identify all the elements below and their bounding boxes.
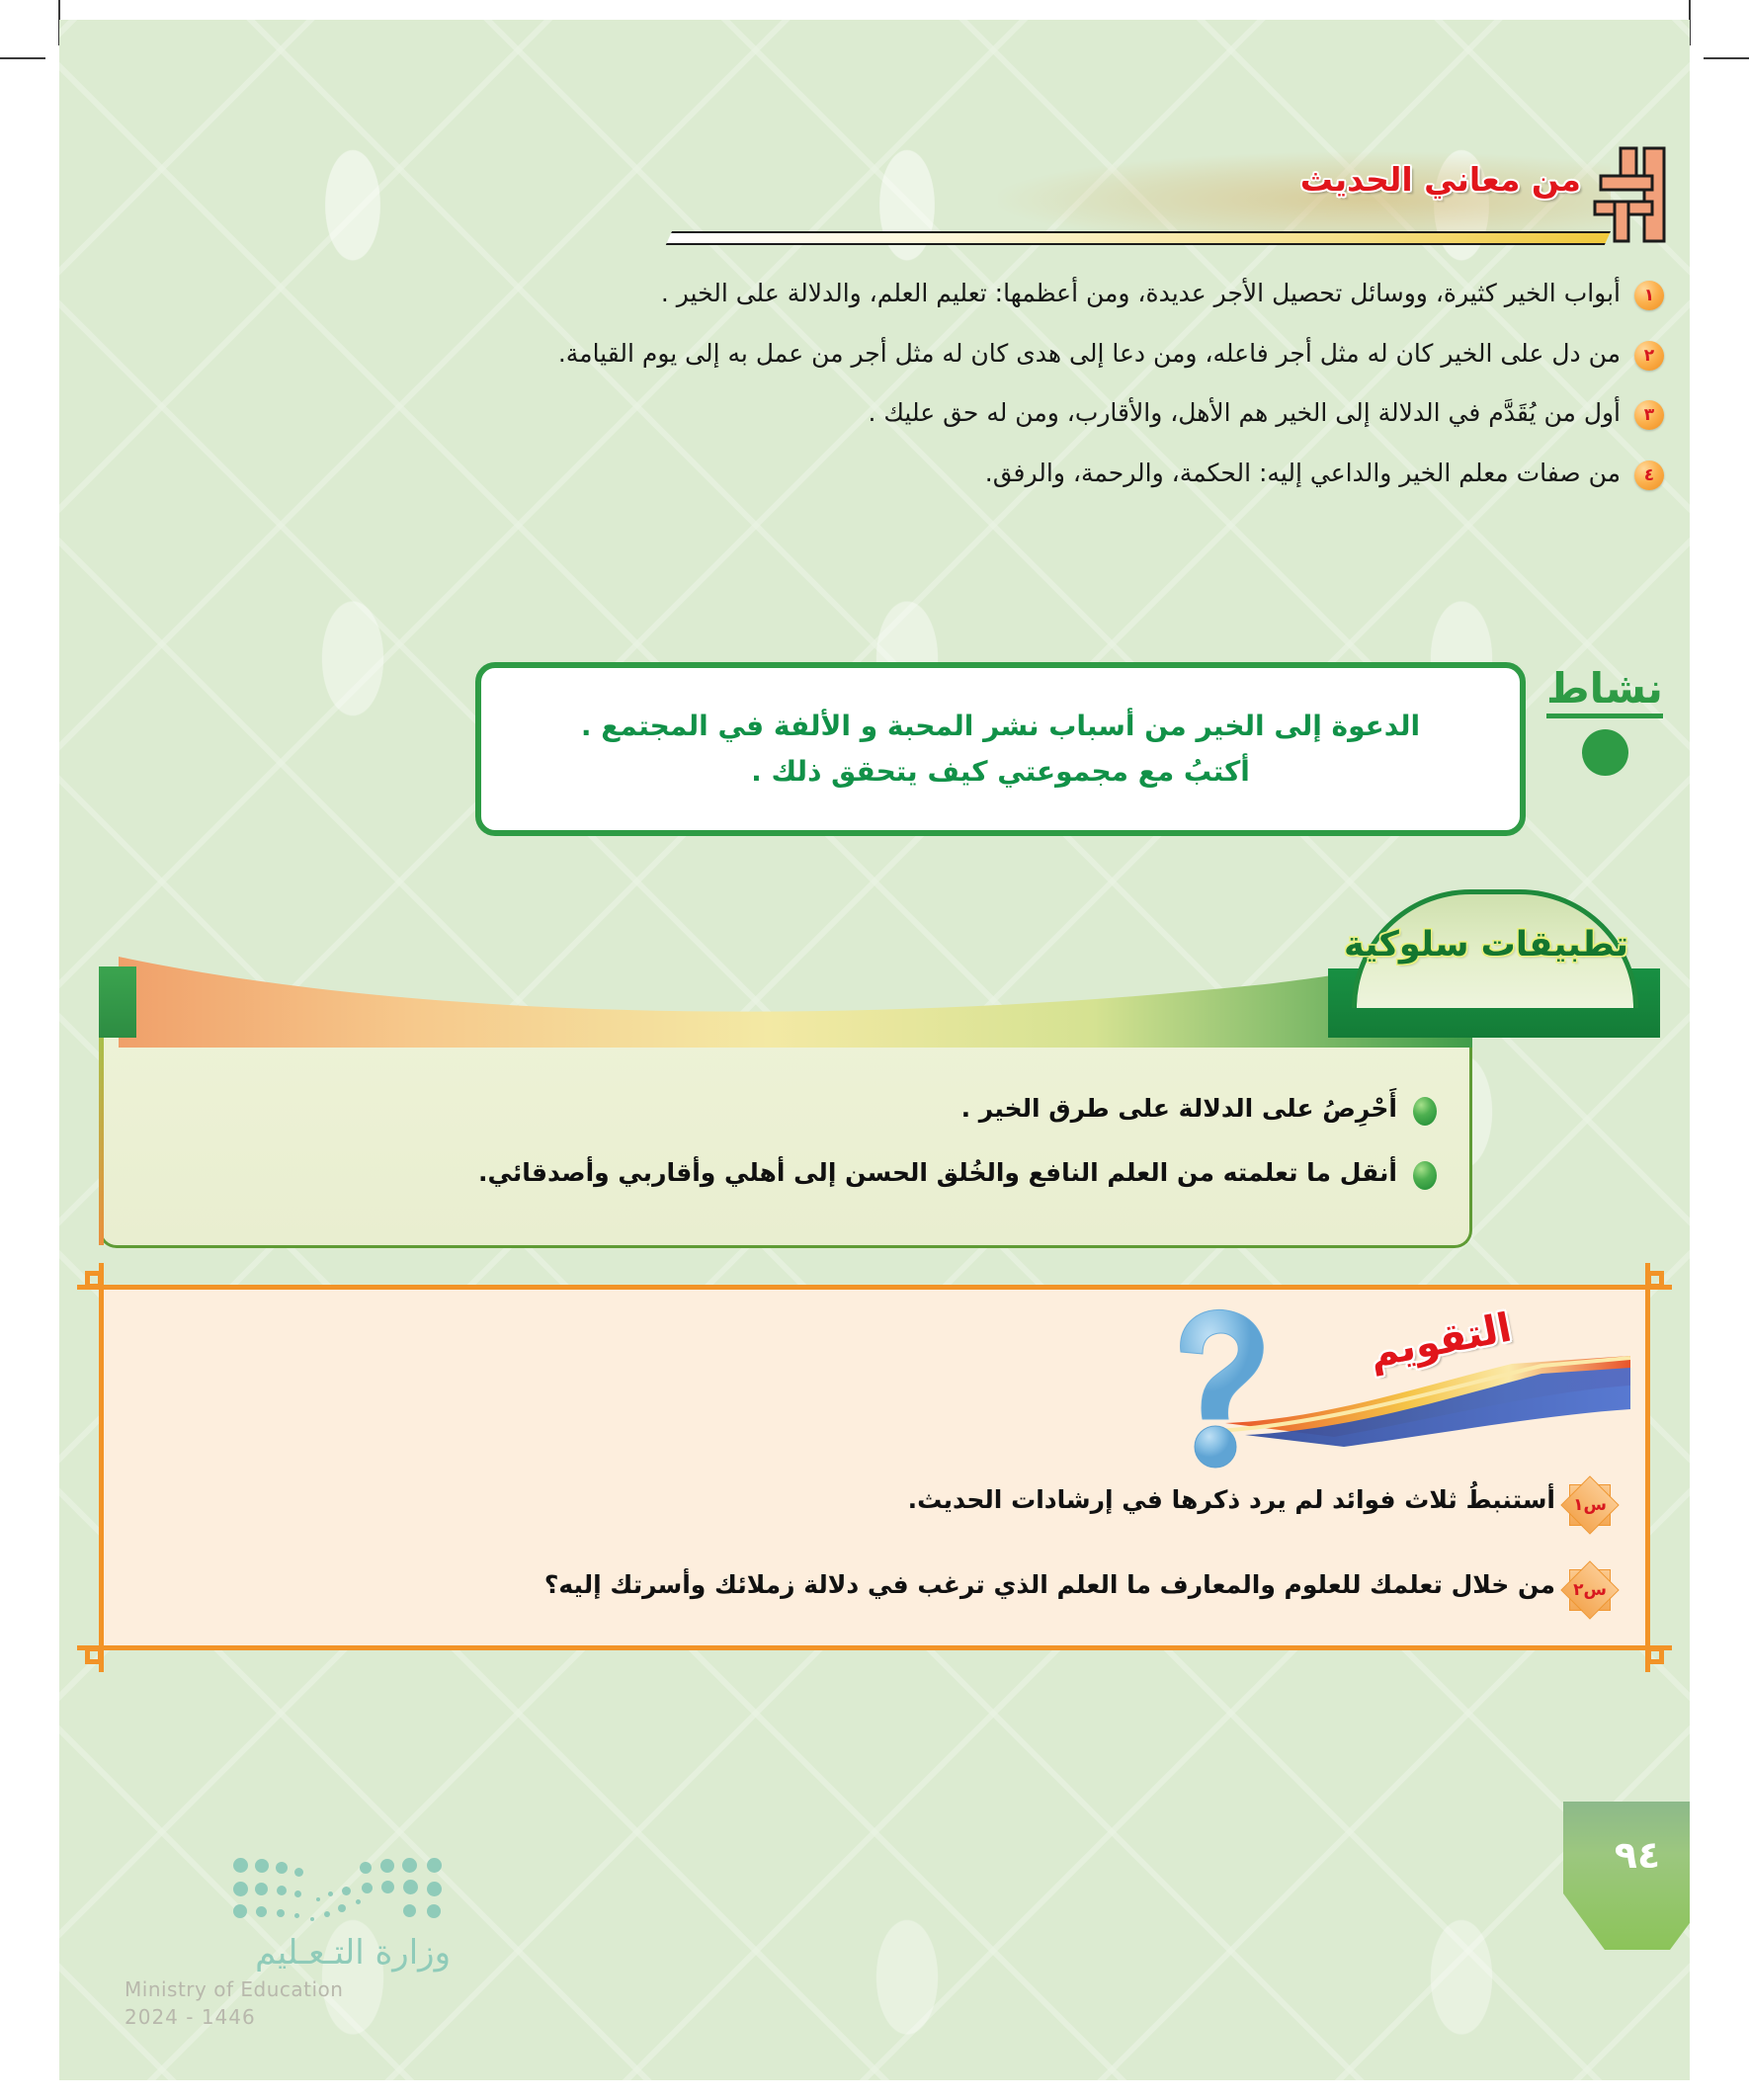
question-number-badge: س١ (1569, 1484, 1611, 1526)
activity-box: الدعوة إلى الخير من أسباب نشر المحبة و ا… (475, 662, 1526, 836)
ministry-name-arabic: وزارة التـعـليم (125, 1935, 451, 1972)
list-item-text: أول من يُقَدَّم في الدلالة إلى الخير هم … (868, 396, 1621, 431)
meanings-section-title: من معاني الحديث (1300, 160, 1581, 199)
question-number-badge: س٢ (1569, 1569, 1611, 1611)
question-mark-icon (1141, 1301, 1290, 1469)
list-item-text: من صفات معلم الخير والداعي إليه: الحكمة،… (985, 457, 1621, 491)
behavioral-applications-section: تطبيقات سلوكية أَحْرِصُ على الدلالة على … (99, 889, 1660, 1265)
question-text: أستنبطُ ثلاث فوائد لم يرد ذكرها في إرشاد… (908, 1482, 1555, 1517)
page-number: ٩٤ (1563, 1833, 1690, 1877)
behavioral-item-text: أنقل ما تعلمته من العلم النافع والخُلق ا… (478, 1155, 1397, 1190)
list-number-badge: ٢ (1634, 341, 1664, 371)
question-number-label: س٢ (1569, 1569, 1611, 1611)
activity-label-group: نشاط (1536, 668, 1674, 776)
kufi-ornament-icon (1591, 146, 1670, 243)
activity-bullet-dot-icon (1582, 729, 1628, 776)
crop-mark-top-left-horizontal (0, 57, 45, 59)
header-rule (666, 231, 1611, 245)
list-item-text: من دل على الخير كان له مثل أجر فاعله، وم… (558, 337, 1621, 372)
list-item: أَحْرِصُ على الدلالة على طرق الخير . (99, 1091, 1472, 1126)
question-row: س٢ من خلال تعلمك للعلوم والمعارف ما العل… (208, 1567, 1611, 1611)
ministry-logo: وزارة التـعـليم Ministry of Education 20… (125, 1858, 451, 2029)
corner-ornament-top-right (1628, 1263, 1672, 1306)
textbook-page: من معاني الحديث ١ أبواب الخير كثيرة، ووس… (59, 20, 1690, 2080)
page-number-badge: ٩٤ (1563, 1802, 1690, 1950)
activity-line: أكتبُ مع مجموعتي كيف يتحقق ذلك . (523, 749, 1478, 795)
evaluation-header: التقويم (1117, 1293, 1630, 1466)
corner-ornament-bottom-left (77, 1629, 121, 1672)
ministry-logo-dots-icon (233, 1858, 451, 1925)
corner-ornament-bottom-right (1628, 1629, 1672, 1672)
list-item: ٢ من دل على الخير كان له مثل أجر فاعله، … (103, 337, 1664, 372)
crop-mark-top-right-horizontal (1704, 57, 1749, 59)
behavioral-items: أَحْرِصُ على الدلالة على طرق الخير . أنق… (99, 1055, 1472, 1219)
behavioral-title: تطبيقات سلوكية (1362, 925, 1628, 965)
behavioral-item-text: أَحْرِصُ على الدلالة على طرق الخير . (961, 1091, 1397, 1126)
meanings-section-header: من معاني الحديث (613, 146, 1670, 255)
evaluation-section: التقويم س١ أستنبطُ ثلاث فوائد لم يرد ذكر… (99, 1285, 1650, 1650)
list-number-badge: ١ (1634, 281, 1664, 310)
list-item: أنقل ما تعلمته من العلم النافع والخُلق ا… (99, 1155, 1472, 1190)
meanings-list: ١ أبواب الخير كثيرة، ووسائل تحصيل الأجر … (103, 277, 1664, 516)
activity-label: نشاط (1546, 668, 1663, 718)
list-number-badge: ٣ (1634, 400, 1664, 430)
behavioral-dark-band-left (99, 966, 136, 1038)
activity-section: نشاط الدعوة إلى الخير من أسباب نشر المحب… (103, 662, 1674, 850)
corner-ornament-top-left (77, 1263, 121, 1306)
question-number-label: س١ (1569, 1484, 1611, 1526)
list-number-badge: ٤ (1634, 461, 1664, 490)
ministry-years: 2024 - 1446 (125, 2005, 451, 2029)
question-text: من خلال تعلمك للعلوم والمعارف ما العلم ا… (544, 1567, 1555, 1602)
list-item-text: أبواب الخير كثيرة، ووسائل تحصيل الأجر عد… (661, 277, 1621, 311)
list-item: ٤ من صفات معلم الخير والداعي إليه: الحكم… (103, 457, 1664, 491)
evaluation-questions: س١ أستنبطُ ثلاث فوائد لم يرد ذكرها في إر… (208, 1482, 1611, 1652)
activity-line: الدعوة إلى الخير من أسباب نشر المحبة و ا… (523, 704, 1478, 749)
ministry-name-english: Ministry of Education (125, 1977, 451, 2001)
behavioral-gradient-wave (99, 949, 1472, 1048)
question-row: س١ أستنبطُ ثلاث فوائد لم يرد ذكرها في إر… (208, 1482, 1611, 1526)
bullet-dot-icon (1413, 1097, 1437, 1126)
bullet-dot-icon (1413, 1161, 1437, 1190)
list-item: ٣ أول من يُقَدَّم في الدلالة إلى الخير ه… (103, 396, 1664, 431)
list-item: ١ أبواب الخير كثيرة، ووسائل تحصيل الأجر … (103, 277, 1664, 311)
